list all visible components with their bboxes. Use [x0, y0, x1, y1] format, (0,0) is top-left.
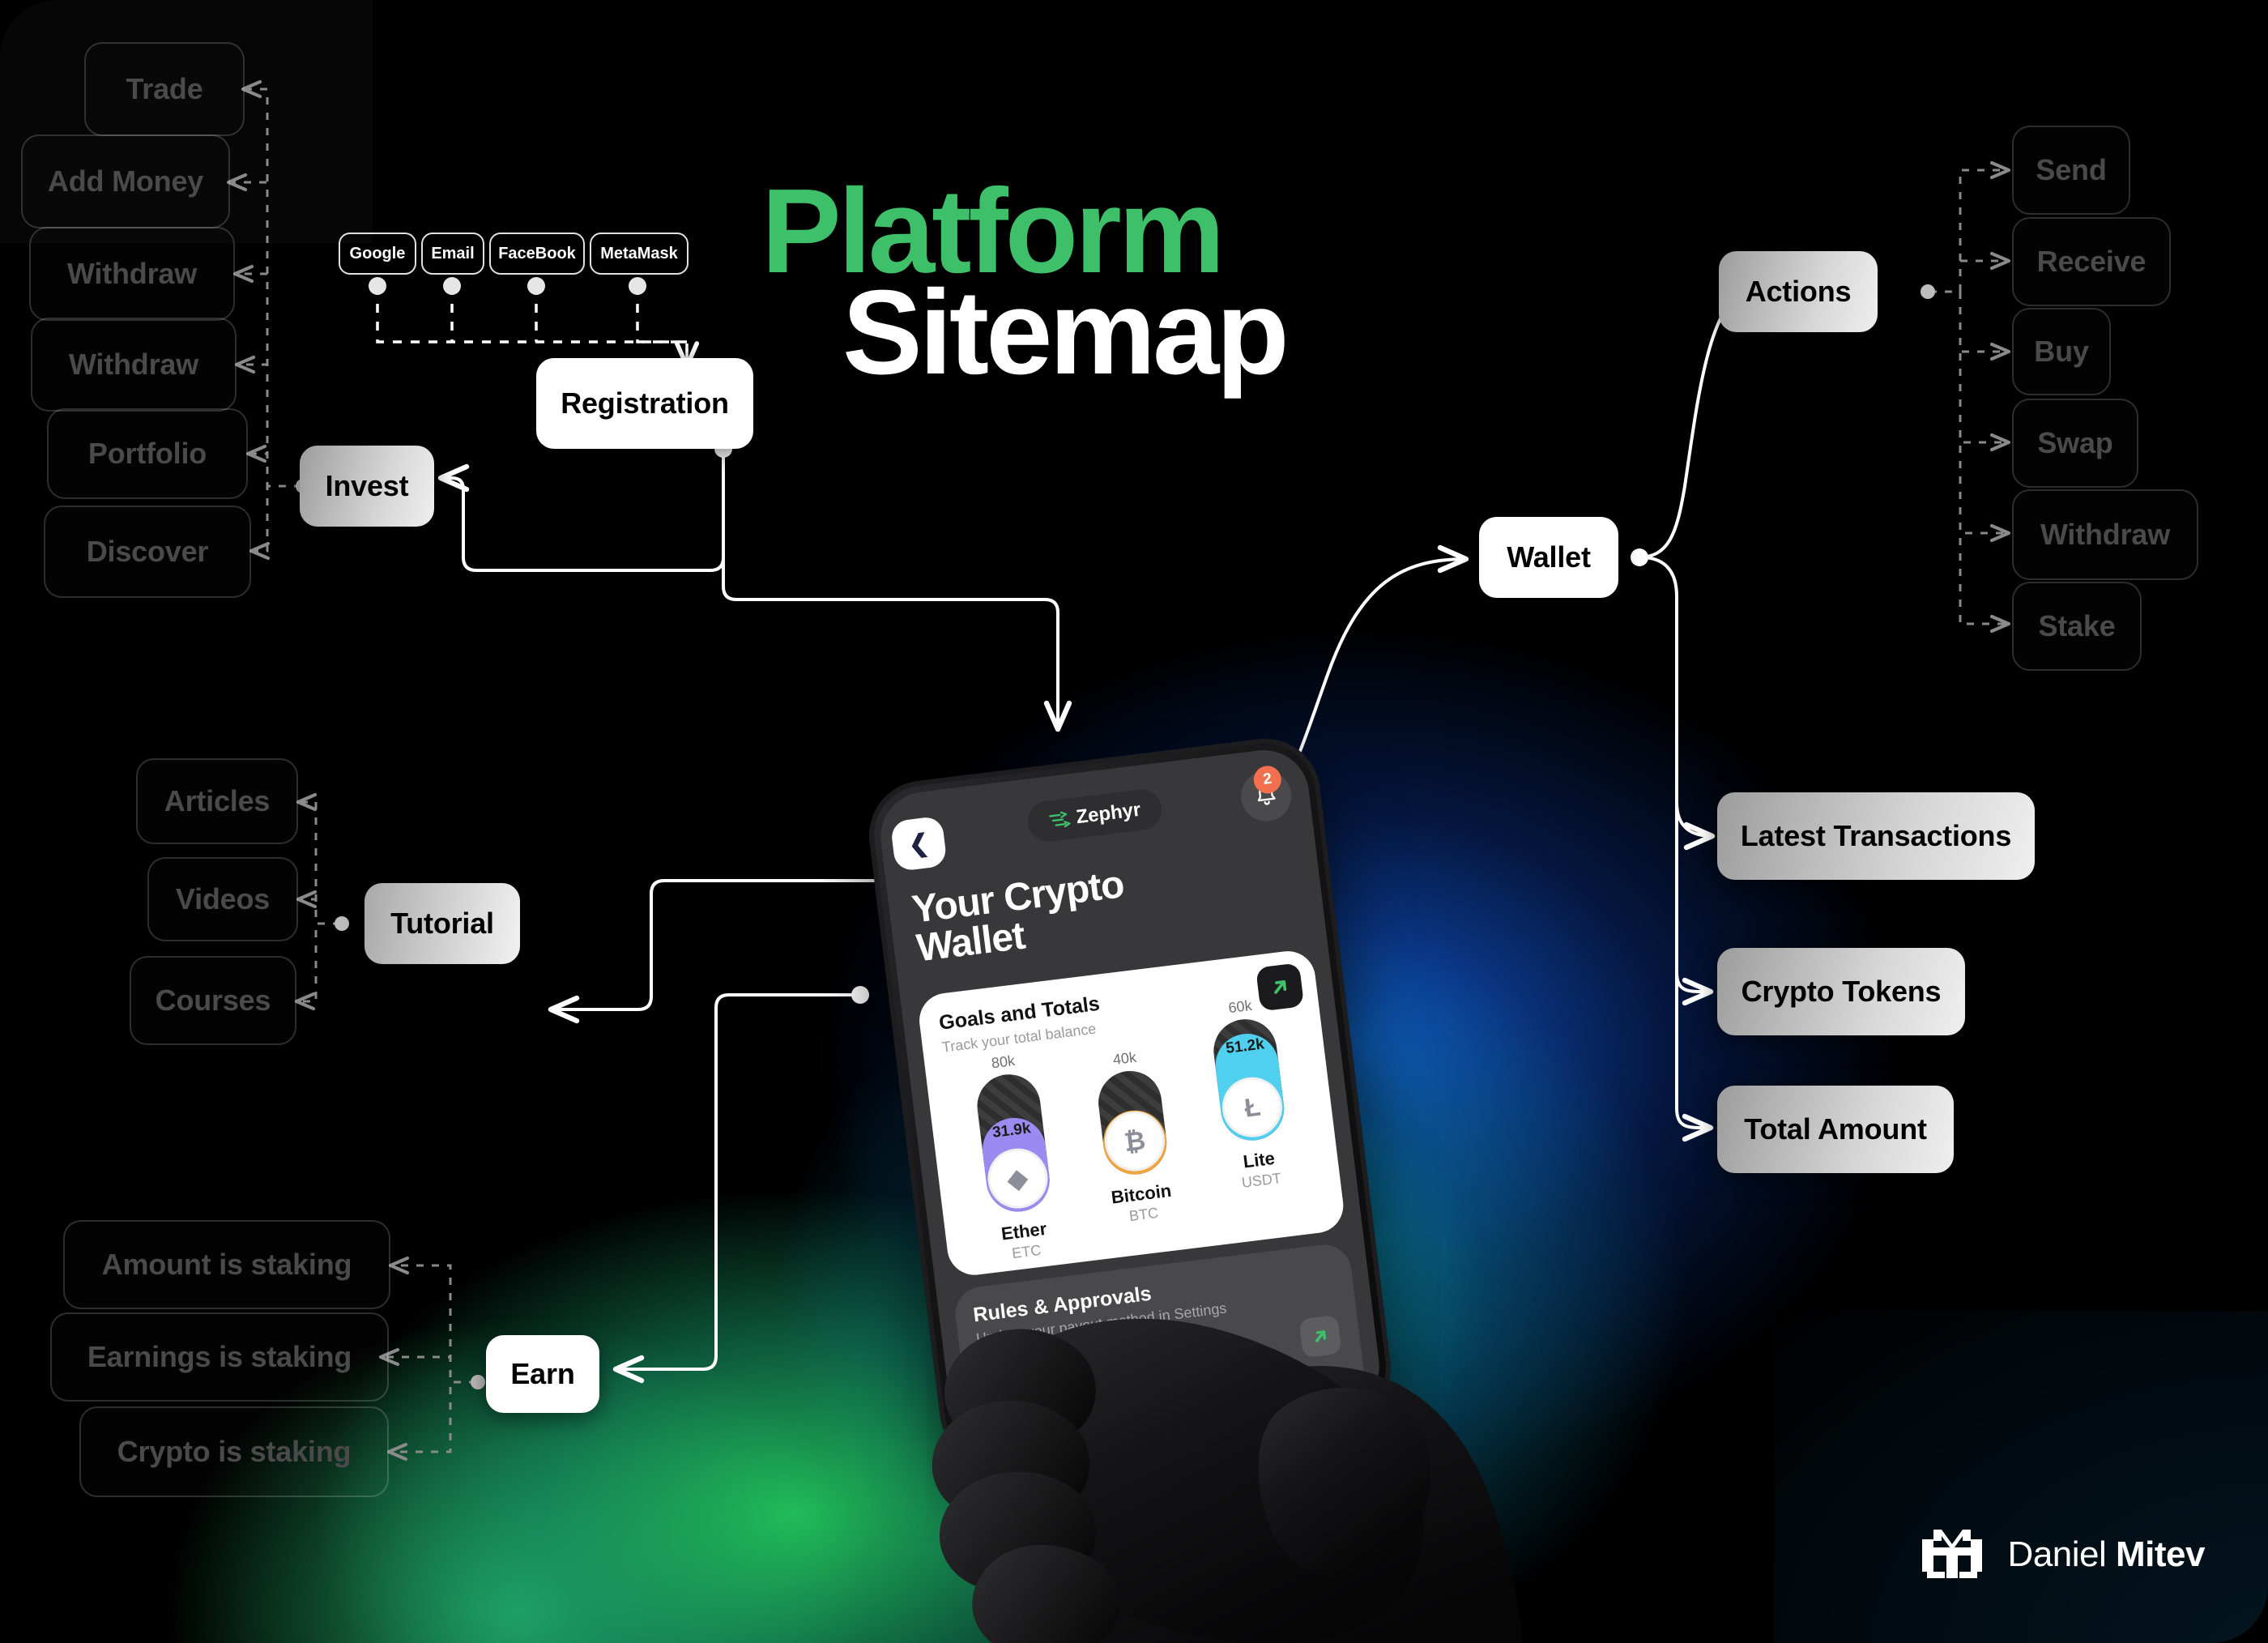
node-invest[interactable]: Invest [300, 446, 434, 527]
bar-name: Lite [1242, 1148, 1276, 1173]
node-tutorial[interactable]: Tutorial [364, 883, 520, 964]
author-name: Daniel Mitev [2008, 1534, 2205, 1575]
phone-mockup: ❮ Zephyr 2 Y [863, 732, 1396, 1471]
node-buy[interactable]: Buy [2012, 308, 2111, 395]
back-chevron-icon[interactable]: ❮ [890, 816, 948, 872]
node-earnings-is-staking[interactable]: Earnings is staking [50, 1312, 389, 1402]
auth-chip-label: Email [431, 245, 474, 263]
node-discover[interactable]: Discover [44, 506, 251, 598]
node-label: Withdraw [67, 257, 197, 291]
avatar [986, 1413, 1033, 1457]
node-label: Swap [2037, 426, 2112, 460]
node-label: Trade [126, 72, 202, 106]
bar-value-label: 51.2k [1225, 1035, 1265, 1058]
node-label: Withdraw [69, 348, 198, 382]
phone-page-title: Your Crypto Wallet [910, 865, 1131, 968]
auth-chip-label: MetaMask [600, 245, 678, 263]
node-earn[interactable]: Earn [486, 1335, 599, 1413]
node-label: Wallet [1507, 540, 1590, 574]
bar-name: Bitcoin [1110, 1180, 1172, 1209]
bar-goal-label: 60k [1227, 997, 1252, 1017]
bar-group-lite: 60k 51.2k Ł Lite USDT [1185, 992, 1316, 1196]
node-amount-is-staking[interactable]: Amount is staking [63, 1220, 390, 1309]
bar-ticker: BTC [1128, 1205, 1159, 1225]
bar-name: Ether [1000, 1218, 1048, 1245]
node-crypto-is-staking[interactable]: Crypto is staking [79, 1406, 389, 1497]
node-label: Articles [164, 784, 270, 818]
goals-and-totals-card: Goals and Totals Track your total balanc… [916, 948, 1346, 1278]
arrow-up-right-icon [1316, 1382, 1338, 1404]
node-label: Add Money [48, 164, 203, 198]
bar-ticker: ETC [1011, 1242, 1042, 1262]
zephyr-logo-icon [1048, 810, 1071, 830]
arrow-up-right-icon [1310, 1325, 1332, 1347]
auth-chip-email[interactable]: Email [421, 233, 484, 275]
background-corner-bottom-right [1774, 1311, 2268, 1643]
bar-ticker: USDT [1241, 1170, 1282, 1192]
node-label: Portfolio [88, 437, 207, 471]
node-label: Registration [561, 386, 729, 420]
node-trade[interactable]: Trade [84, 42, 245, 136]
node-add-money[interactable]: Add Money [21, 134, 230, 228]
node-label: Send [2036, 153, 2106, 187]
node-label: Receive [2037, 245, 2146, 279]
notification-bell-button[interactable]: 2 [1238, 768, 1294, 824]
node-label: Courses [156, 984, 271, 1018]
node-label: Earn [510, 1357, 574, 1391]
node-videos[interactable]: Videos [147, 857, 298, 941]
page-title-line2: Sitemap [842, 284, 1286, 382]
node-label: Crypto is staking [117, 1435, 352, 1469]
author-signature: Daniel Mitev [1917, 1523, 2205, 1586]
author-first-name: Daniel [2008, 1534, 2116, 1574]
sitemap-canvas: Platform Sitemap Google Email FaceBook M… [0, 0, 2268, 1643]
brand-name: Zephyr [1075, 799, 1142, 830]
auth-chip-label: FaceBook [498, 245, 576, 263]
bar-track-bitcoin: 15.1k ₿ [1095, 1068, 1170, 1179]
dm-monogram-icon [1917, 1523, 1987, 1586]
node-label: Latest Transactions [1741, 819, 2011, 853]
node-withdraw-1[interactable]: Withdraw [29, 227, 235, 321]
node-label: Invest [326, 469, 409, 503]
approve-button[interactable] [1306, 1371, 1349, 1414]
node-label: Withdraw [2040, 518, 2170, 552]
approve-button[interactable] [1298, 1315, 1341, 1358]
node-articles[interactable]: Articles [136, 758, 298, 844]
node-label: Videos [176, 882, 270, 916]
node-stake[interactable]: Stake [2012, 582, 2142, 671]
page-title: Platform Sitemap [761, 182, 1286, 382]
avatar [979, 1357, 1026, 1404]
auth-chip-metamask[interactable]: MetaMask [590, 233, 688, 275]
crypto-bar-chart: 80k 31.9k ◆ Ether ETC 40k [944, 1031, 1328, 1268]
bar-track-lite: 51.2k Ł [1210, 1016, 1288, 1144]
auth-chip-google[interactable]: Google [339, 233, 416, 275]
node-receive[interactable]: Receive [2012, 217, 2171, 306]
bar-value-label: 31.9k [991, 1120, 1032, 1143]
node-label: Earnings is staking [87, 1340, 352, 1374]
node-registration[interactable]: Registration [536, 358, 753, 449]
auth-chip-facebook[interactable]: FaceBook [489, 233, 585, 275]
node-portfolio[interactable]: Portfolio [47, 408, 248, 499]
node-label: Stake [2038, 609, 2115, 643]
node-send[interactable]: Send [2012, 126, 2130, 215]
auth-chip-label: Google [350, 245, 406, 263]
phone-screen: ❮ Zephyr 2 Y [876, 745, 1384, 1459]
node-withdraw-2[interactable]: Withdraw [31, 318, 237, 412]
bar-goal-label: 40k [1112, 1049, 1137, 1069]
node-label: Amount is staking [102, 1248, 352, 1282]
bar-group-bitcoin: 40k 15.1k ₿ Bitcoin BTC [1069, 1043, 1199, 1230]
node-withdraw-action[interactable]: Withdraw [2012, 489, 2198, 580]
node-label: Buy [2034, 335, 2088, 369]
node-label: Crypto Tokens [1742, 975, 1942, 1009]
node-label: Total Amount [1744, 1112, 1927, 1146]
node-swap[interactable]: Swap [2012, 399, 2138, 488]
node-label: Actions [1746, 275, 1852, 309]
author-last-name: Mitev [2116, 1534, 2205, 1574]
brand-pill: Zephyr [1025, 787, 1164, 844]
node-wallet[interactable]: Wallet [1479, 517, 1618, 598]
node-label: Discover [87, 535, 209, 569]
node-total-amount[interactable]: Total Amount [1717, 1086, 1954, 1173]
bar-group-ether: 80k 31.9k ◆ Ether ETC [949, 1048, 1082, 1267]
node-courses[interactable]: Courses [130, 956, 296, 1045]
node-label: Tutorial [390, 907, 494, 941]
bar-track-ether: 31.9k ◆ [974, 1071, 1053, 1215]
node-latest-transactions[interactable]: Latest Transactions [1717, 792, 2035, 880]
node-actions[interactable]: Actions [1719, 251, 1878, 332]
bar-goal-label: 80k [991, 1052, 1016, 1072]
node-crypto-tokens[interactable]: Crypto Tokens [1717, 948, 1965, 1035]
